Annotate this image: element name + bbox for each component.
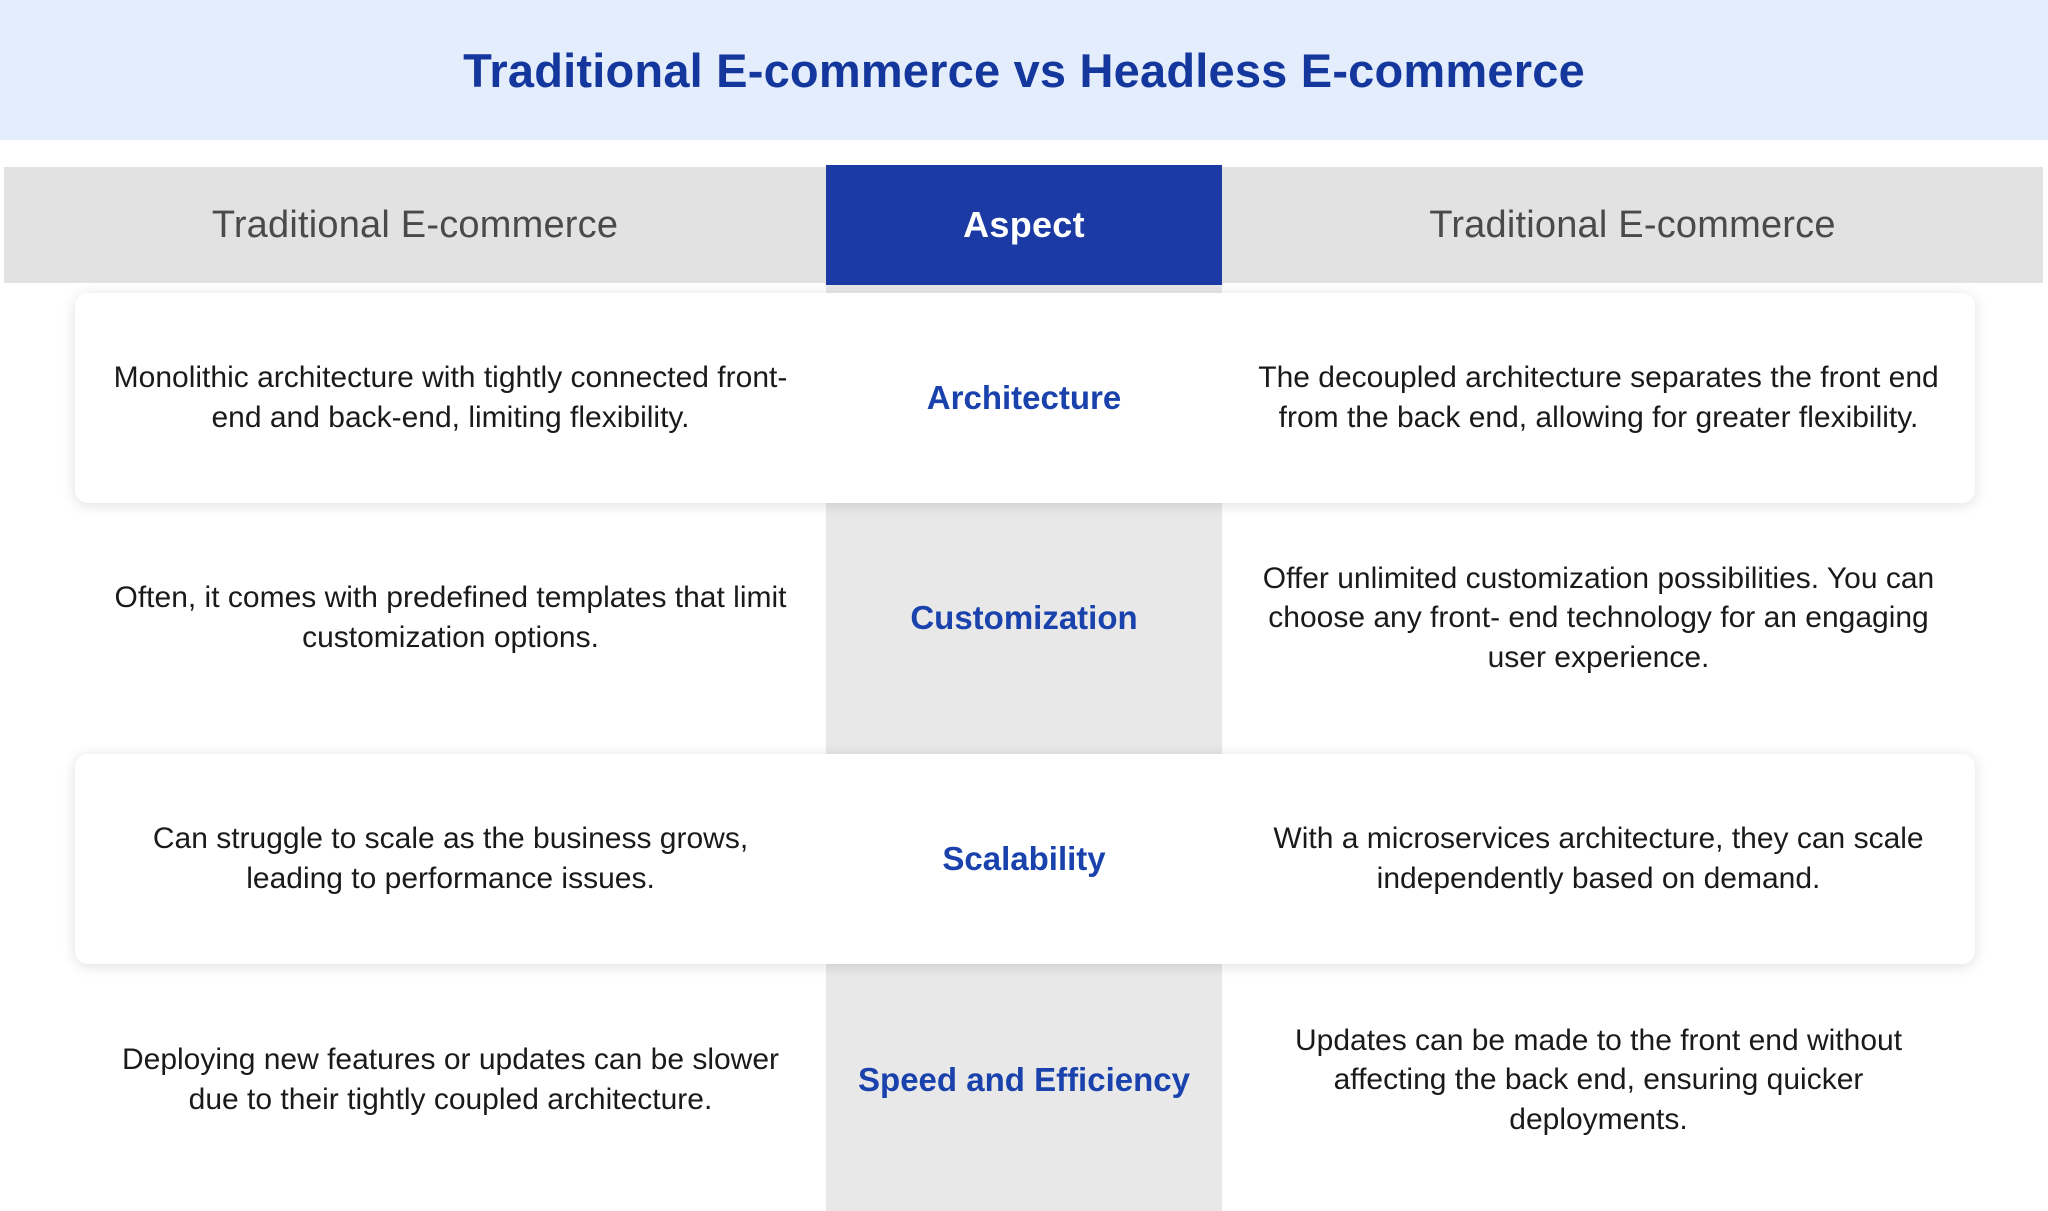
table-row: Often, it comes with predefined template… [0, 518, 2048, 718]
row-aspect-label: Architecture [927, 378, 1121, 418]
column-header-aspect-label: Aspect [963, 204, 1085, 246]
row-cell-left: Can struggle to scale as the business gr… [75, 754, 826, 964]
row-cell-right-text: Updates can be made to the front end wit… [1248, 1021, 1949, 1140]
page-title-bar: Traditional E-commerce vs Headless E-com… [0, 0, 2048, 140]
column-header-right-label: Traditional E-commerce [1429, 204, 1835, 247]
column-header-right: Traditional E-commerce [1222, 167, 2043, 283]
table-row: Deploying new features or updates can be… [0, 980, 2048, 1180]
table-row: Monolithic architecture with tightly con… [0, 293, 2048, 503]
row-cell-left-text: Monolithic architecture with tightly con… [101, 358, 800, 437]
row-cell-left: Often, it comes with predefined template… [75, 518, 826, 718]
column-header-left-label: Traditional E-commerce [212, 204, 618, 247]
row-cell-left-text: Can struggle to scale as the business gr… [101, 819, 800, 898]
row-cell-aspect: Architecture [826, 293, 1222, 503]
column-header-aspect: Aspect [826, 165, 1222, 285]
column-header-left: Traditional E-commerce [4, 167, 826, 283]
row-cell-aspect: Scalability [826, 754, 1222, 964]
row-aspect-label: Scalability [942, 839, 1105, 879]
row-cell-right: The decoupled architecture separates the… [1222, 293, 1975, 503]
row-cell-right-text: With a microservices architecture, they … [1248, 819, 1949, 898]
row-cell-right: With a microservices architecture, they … [1222, 754, 1975, 964]
row-cell-left-text: Deploying new features or updates can be… [101, 1040, 800, 1119]
row-cell-left: Deploying new features or updates can be… [75, 980, 826, 1180]
row-cell-right-text: The decoupled architecture separates the… [1248, 358, 1949, 437]
row-cell-left-text: Often, it comes with predefined template… [101, 578, 800, 657]
row-aspect-label: Customization [910, 598, 1137, 638]
row-cell-left: Monolithic architecture with tightly con… [75, 293, 826, 503]
row-cell-aspect: Customization [826, 518, 1222, 718]
row-cell-aspect: Speed and Efficiency [826, 980, 1222, 1180]
row-cell-right-text: Offer unlimited customization possibilit… [1248, 559, 1949, 678]
page-title: Traditional E-commerce vs Headless E-com… [463, 43, 1585, 98]
row-cell-right: Updates can be made to the front end wit… [1222, 980, 1975, 1180]
row-cell-right: Offer unlimited customization possibilit… [1222, 518, 1975, 718]
row-aspect-label: Speed and Efficiency [858, 1060, 1190, 1100]
table-row: Can struggle to scale as the business gr… [0, 754, 2048, 964]
comparison-table: Traditional E-commerce Aspect Traditiona… [0, 140, 2048, 1211]
